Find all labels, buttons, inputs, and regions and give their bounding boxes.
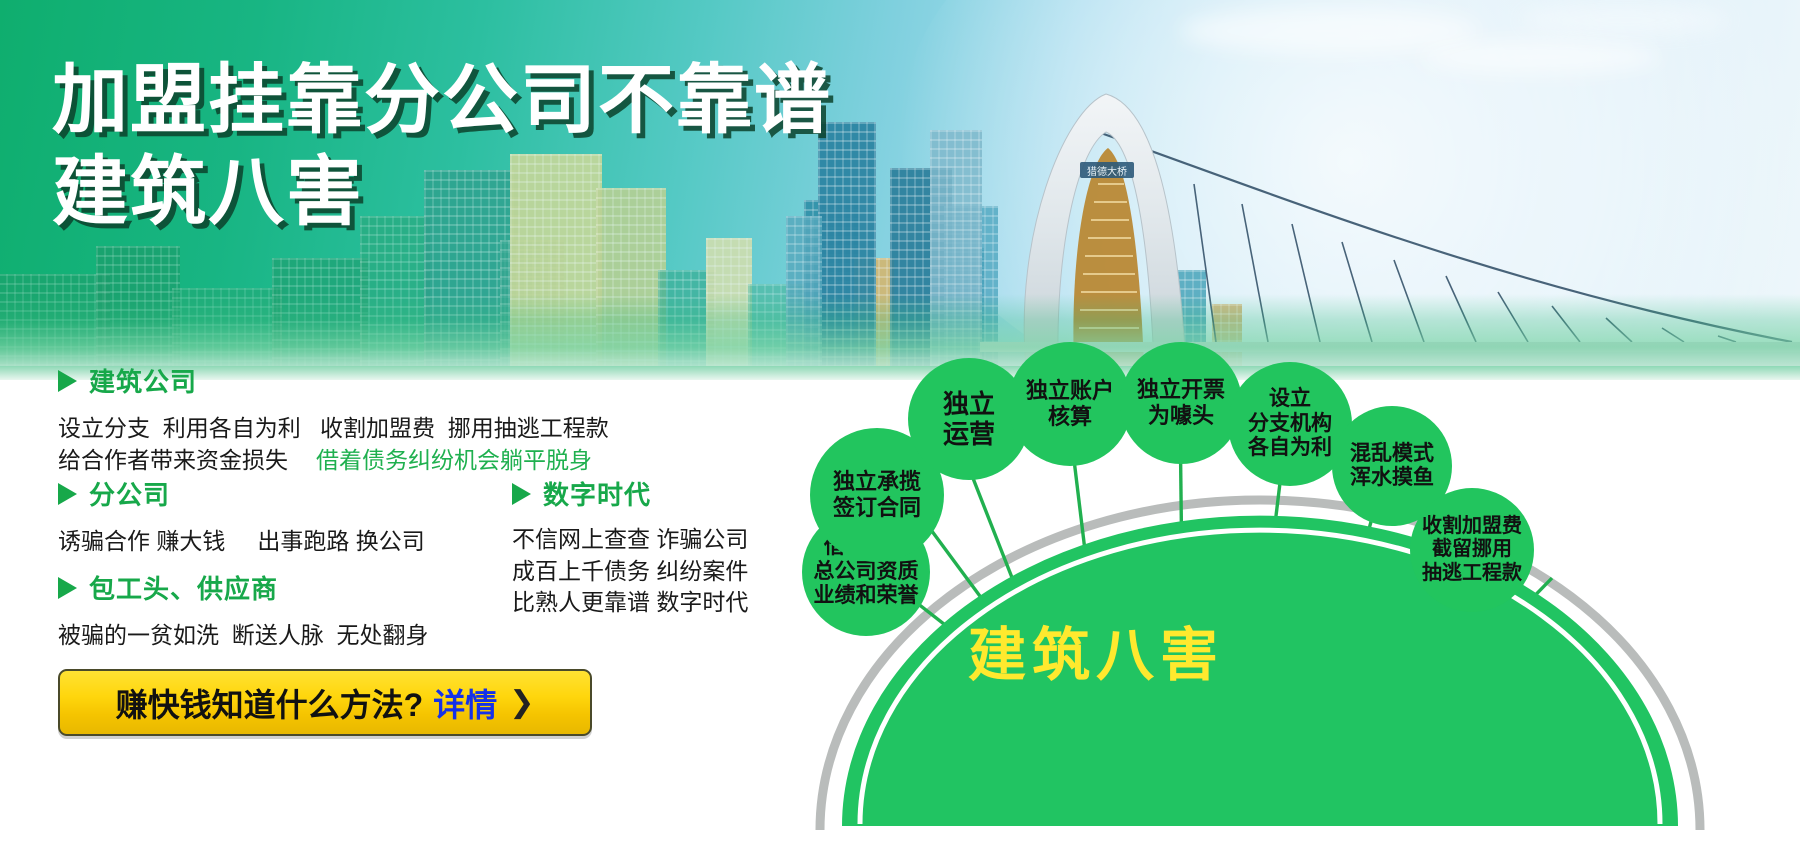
hero-banner: 猎德大桥 加盟挂靠分公司不靠谱 建筑八害: [0, 0, 1800, 380]
section-line: 成百上千债务 纠纷案件: [512, 556, 748, 588]
section-contractor-supplier: 包工头、供应商 被骗的一贫如洗 断送人脉 无处翻身: [58, 569, 429, 652]
bubble-label: 独立开票为噱头: [1137, 377, 1225, 428]
cloud-3: [1520, 6, 1730, 34]
section-construction-company: 建筑公司 设立分支 利用各自为利 收割加盟费 挪用抽逃工程款 给合作者带来资金损…: [58, 362, 609, 476]
triangle-icon: [58, 370, 77, 392]
dome-center-label: 建筑八害: [968, 608, 1224, 692]
section-line: 不信网上查查 诈骗公司: [512, 524, 748, 556]
cloud-2: [1420, 40, 1660, 74]
poster-root: 猎德大桥 加盟挂靠分公司不靠谱 建筑八害 建筑公司 设立分支 利用各自为利 收割…: [0, 0, 1800, 844]
bubble-item[interactable]: 收割加盟费截留挪用抽逃工程款: [1410, 488, 1534, 612]
cloud-1: [1180, 8, 1480, 54]
section-title: 包工头、供应商: [89, 569, 278, 606]
bubble-item[interactable]: 独立开票为噱头: [1120, 342, 1242, 464]
section-header: 包工头、供应商: [58, 569, 429, 606]
section-line: 设立分支 利用各自为利 收割加盟费 挪用抽逃工程款: [58, 413, 609, 445]
section-line-highlight: 借着债务纠纷机会躺平脱身: [316, 445, 592, 477]
bubble-label: 独立账户核算: [1026, 378, 1114, 429]
section-branch-company: 分公司 诱骗合作 赚大钱 出事跑路 换公司: [58, 475, 425, 558]
bubble-item[interactable]: 独立账户核算: [1008, 342, 1132, 466]
triangle-icon: [58, 577, 77, 599]
hero-title-line2: 建筑八害: [52, 150, 832, 235]
bubble-label: 收割加盟费截留挪用抽逃工程款: [1422, 515, 1522, 585]
section-header: 分公司: [58, 475, 425, 512]
hero-title-line1: 加盟挂靠分公司不靠谱: [52, 60, 832, 142]
hero-title: 加盟挂靠分公司不靠谱 建筑八害: [52, 60, 832, 235]
cta-main-text: 赚快钱知道什么方法?: [116, 680, 424, 726]
cta-link-text[interactable]: 详情: [433, 680, 497, 726]
bridge-sign-text: 猎德大桥: [1087, 165, 1127, 178]
bubble-label: 独立运营: [943, 389, 995, 449]
triangle-icon: [512, 483, 531, 505]
cta-button[interactable]: 赚快钱知道什么方法? 详情 ❯: [58, 669, 592, 736]
section-line: 比熟人更靠谱 数字时代: [512, 587, 748, 619]
section-header: 建筑公司: [58, 362, 609, 399]
bazhai-diagram: 借着使用总公司资质业绩和荣誉 独立承揽签订合同 独立运营 独立账户核算 独立开票…: [790, 330, 1800, 844]
section-title: 建筑公司: [89, 362, 197, 399]
chevron-right-icon: ❯: [509, 685, 534, 720]
section-digital-era: 数字时代 不信网上查查 诈骗公司 成百上千债务 纠纷案件 比熟人更靠谱 数字时代: [512, 475, 748, 619]
section-title: 分公司: [89, 475, 170, 512]
section-header: 数字时代: [512, 475, 748, 512]
section-line: 诱骗合作 赚大钱 出事跑路 换公司: [58, 526, 425, 558]
section-line: 被骗的一贫如洗 断送人脉 无处翻身: [58, 620, 429, 652]
bubble-label: 独立承揽签订合同: [833, 469, 921, 520]
triangle-icon: [58, 483, 77, 505]
left-content: 建筑公司 设立分支 利用各自为利 收割加盟费 挪用抽逃工程款 给合作者带来资金损…: [0, 392, 790, 844]
bubble-label: 设立分支机构各自为利: [1248, 387, 1332, 460]
bubble-label: 混乱模式浑水摸鱼: [1350, 442, 1434, 491]
section-line: 给合作者带来资金损失: [58, 445, 288, 477]
section-title: 数字时代: [543, 475, 651, 512]
